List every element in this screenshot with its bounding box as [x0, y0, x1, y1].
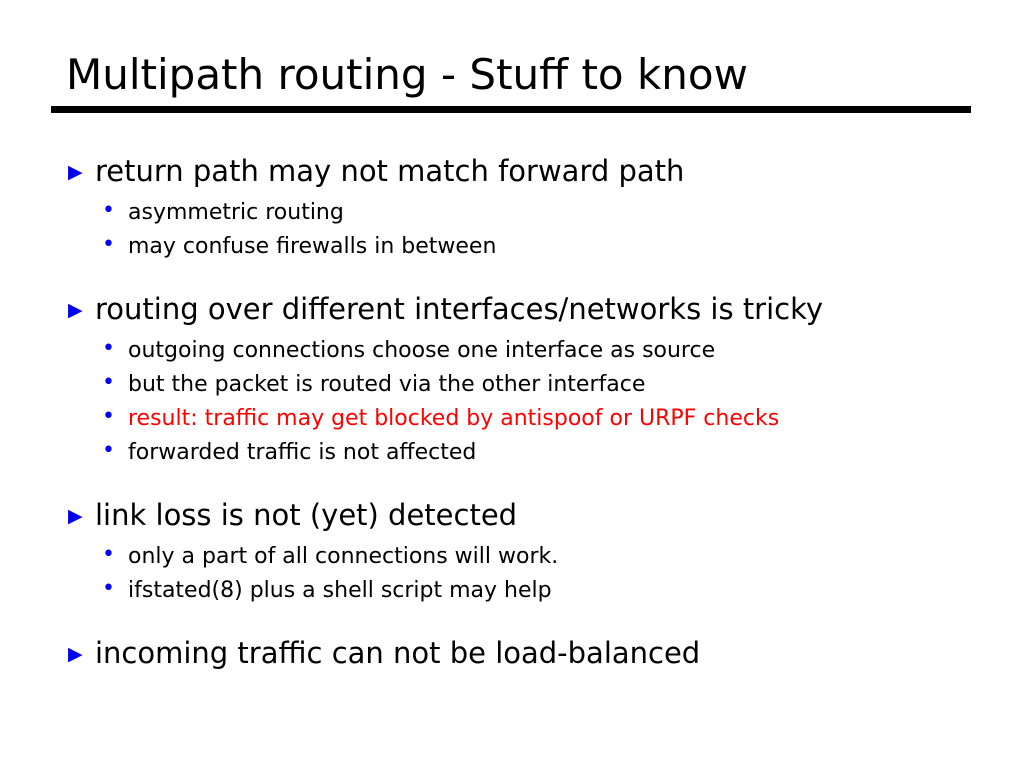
- dot-bullet-icon: •: [68, 572, 128, 606]
- bullet-level1: ▶ return path may not match forward path: [68, 152, 998, 194]
- bullet-group: ▶ routing over different interfaces/netw…: [68, 290, 998, 470]
- dot-bullet-icon: •: [68, 332, 128, 366]
- bullet-level2: • forwarded traffic is not affected: [68, 436, 998, 470]
- bullet-group: ▶ return path may not match forward path…: [68, 152, 998, 264]
- title-underline-rule: [51, 106, 971, 113]
- bullet-level2: • but the packet is routed via the other…: [68, 368, 998, 402]
- dot-bullet-icon: •: [68, 538, 128, 572]
- triangle-bullet-icon: ▶: [68, 153, 95, 191]
- dot-bullet-icon: •: [68, 400, 128, 434]
- bullet-group: ▶ incoming traffic can not be load-balan…: [68, 634, 998, 676]
- bullet-level2: • ifstated(8) plus a shell script may he…: [68, 574, 998, 608]
- dot-bullet-icon: •: [68, 434, 128, 468]
- bullet-level2-label-warning: result: traffic may get blocked by antis…: [128, 402, 779, 436]
- bullet-level2-label: outgoing connections choose one interfac…: [128, 334, 715, 368]
- bullet-level1-label: link loss is not (yet) detected: [95, 496, 517, 534]
- page-title: Multipath routing - Stuff to know: [51, 48, 971, 102]
- bullet-level2: • asymmetric routing: [68, 196, 998, 230]
- bullet-level2-label: but the packet is routed via the other i…: [128, 368, 645, 402]
- dot-bullet-icon: •: [68, 194, 128, 228]
- bullet-level2-label: may confuse firewalls in between: [128, 230, 496, 264]
- slide-body: ▶ return path may not match forward path…: [68, 152, 998, 678]
- bullet-level1-label: return path may not match forward path: [95, 152, 684, 190]
- bullet-level1-label: incoming traffic can not be load-balance…: [95, 634, 700, 672]
- presentation-slide: Multipath routing - Stuff to know ▶ retu…: [0, 0, 1024, 768]
- dot-bullet-icon: •: [68, 228, 128, 262]
- bullet-group: ▶ link loss is not (yet) detected • only…: [68, 496, 998, 608]
- dot-bullet-icon: •: [68, 366, 128, 400]
- bullet-level1: ▶ incoming traffic can not be load-balan…: [68, 634, 998, 676]
- bullet-level2: • only a part of all connections will wo…: [68, 540, 998, 574]
- triangle-bullet-icon: ▶: [68, 635, 95, 673]
- bullet-level2-label: forwarded traffic is not affected: [128, 436, 476, 470]
- triangle-bullet-icon: ▶: [68, 291, 95, 329]
- bullet-level2: • may confuse firewalls in between: [68, 230, 998, 264]
- triangle-bullet-icon: ▶: [68, 497, 95, 535]
- bullet-level1: ▶ link loss is not (yet) detected: [68, 496, 998, 538]
- bullet-level2-label: asymmetric routing: [128, 196, 344, 230]
- bullet-level2-highlighted: • result: traffic may get blocked by ant…: [68, 402, 998, 436]
- bullet-level2: • outgoing connections choose one interf…: [68, 334, 998, 368]
- bullet-level1: ▶ routing over different interfaces/netw…: [68, 290, 998, 332]
- bullet-level2-label: only a part of all connections will work…: [128, 540, 558, 574]
- bullet-level2-label: ifstated(8) plus a shell script may help: [128, 574, 552, 608]
- title-block: Multipath routing - Stuff to know: [51, 48, 971, 113]
- bullet-level1-label: routing over different interfaces/networ…: [95, 290, 823, 328]
